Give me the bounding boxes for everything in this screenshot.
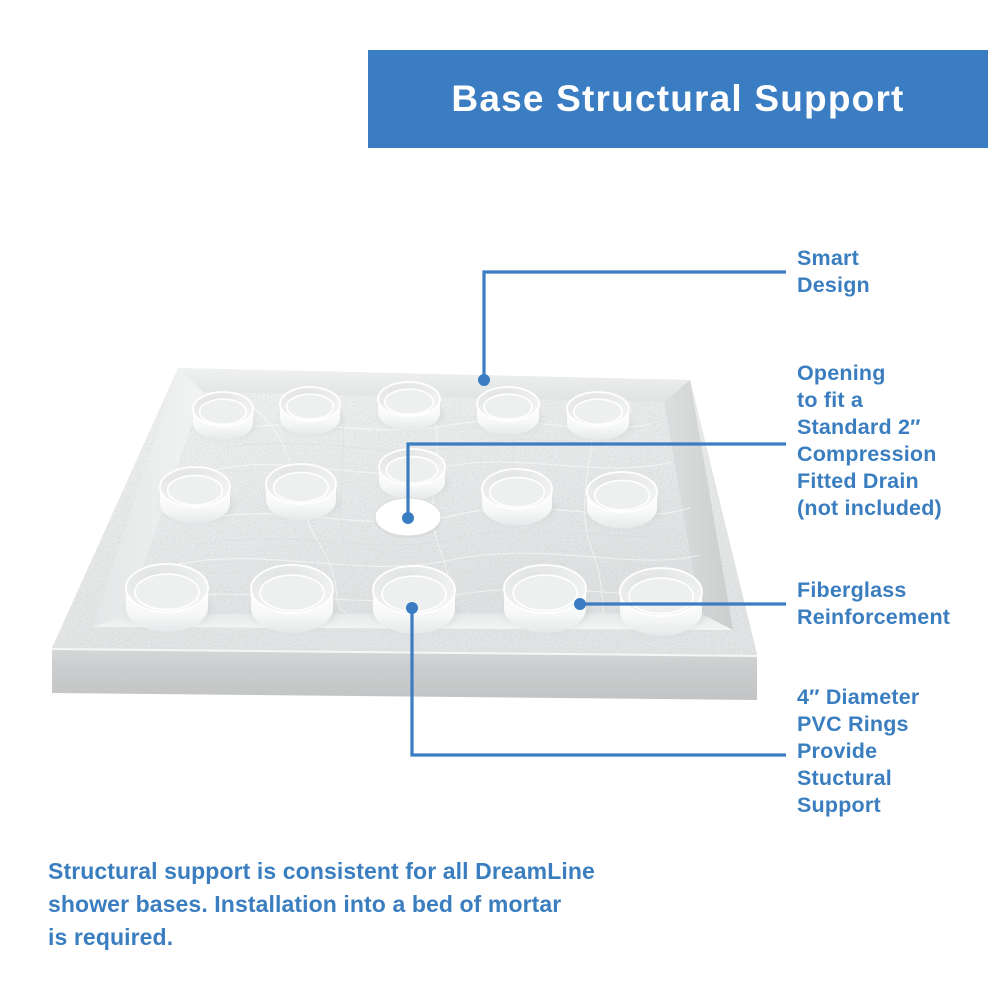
leader-line-smart-design	[484, 272, 786, 380]
pvc-ring	[373, 566, 459, 634]
pvc-ring	[477, 387, 543, 435]
pan-top-rim	[52, 368, 757, 655]
pvc-ring	[378, 382, 444, 430]
rim-front-bevel	[93, 613, 733, 630]
leader-line-pvc-rings	[412, 608, 786, 755]
pvc-ring	[587, 472, 661, 528]
rim-left-bevel	[93, 368, 203, 627]
leader-dot-drain-opening	[402, 512, 414, 524]
pan-side-highlight	[52, 645, 757, 657]
pvc-ring	[620, 568, 706, 636]
shower-base-pan	[52, 368, 757, 700]
center-drain-opening	[374, 498, 442, 538]
pan-inner-floor	[127, 392, 700, 614]
callout-leader-lines	[402, 272, 786, 755]
pvc-ring	[482, 469, 556, 525]
title-banner: Base Structural Support	[368, 50, 988, 148]
callout-label-pvc-rings: 4″ Diameter PVC Rings Provide Stuctural …	[797, 684, 997, 819]
pvc-support-rings	[126, 382, 706, 636]
pvc-ring	[567, 392, 633, 440]
pan-front-side	[52, 648, 757, 700]
leader-line-drain-opening	[408, 444, 786, 518]
fiberglass-texture	[150, 404, 702, 613]
leader-dot-smart-design	[478, 374, 490, 386]
pvc-ring	[379, 449, 449, 500]
leader-dot-fiberglass	[574, 598, 586, 610]
leader-dot-pvc-rings	[406, 602, 418, 614]
fiberglass-texture-dark	[196, 400, 696, 613]
pvc-ring	[280, 387, 344, 435]
rim-right-bevel	[664, 380, 733, 630]
bottom-caption: Structural support is consistent for all…	[48, 855, 668, 954]
pvc-ring	[251, 565, 337, 633]
pvc-ring	[126, 564, 212, 632]
pvc-ring	[266, 464, 340, 520]
callout-label-fiberglass-reinforcement: Fiberglass Reinforcement	[797, 577, 997, 631]
pvc-ring	[504, 565, 590, 633]
page-title: Base Structural Support	[451, 78, 904, 120]
pvc-ring	[193, 392, 257, 440]
pan-right-side	[690, 380, 757, 700]
callout-label-smart-design: Smart Design	[797, 245, 997, 299]
pvc-ring	[160, 467, 234, 523]
infographic-page: Base Structural Support Smart Design Ope…	[0, 0, 1000, 1000]
callout-label-drain-opening: Opening to fit a Standard 2″ Compression…	[797, 360, 1000, 522]
rim-back-bevel	[178, 368, 690, 402]
